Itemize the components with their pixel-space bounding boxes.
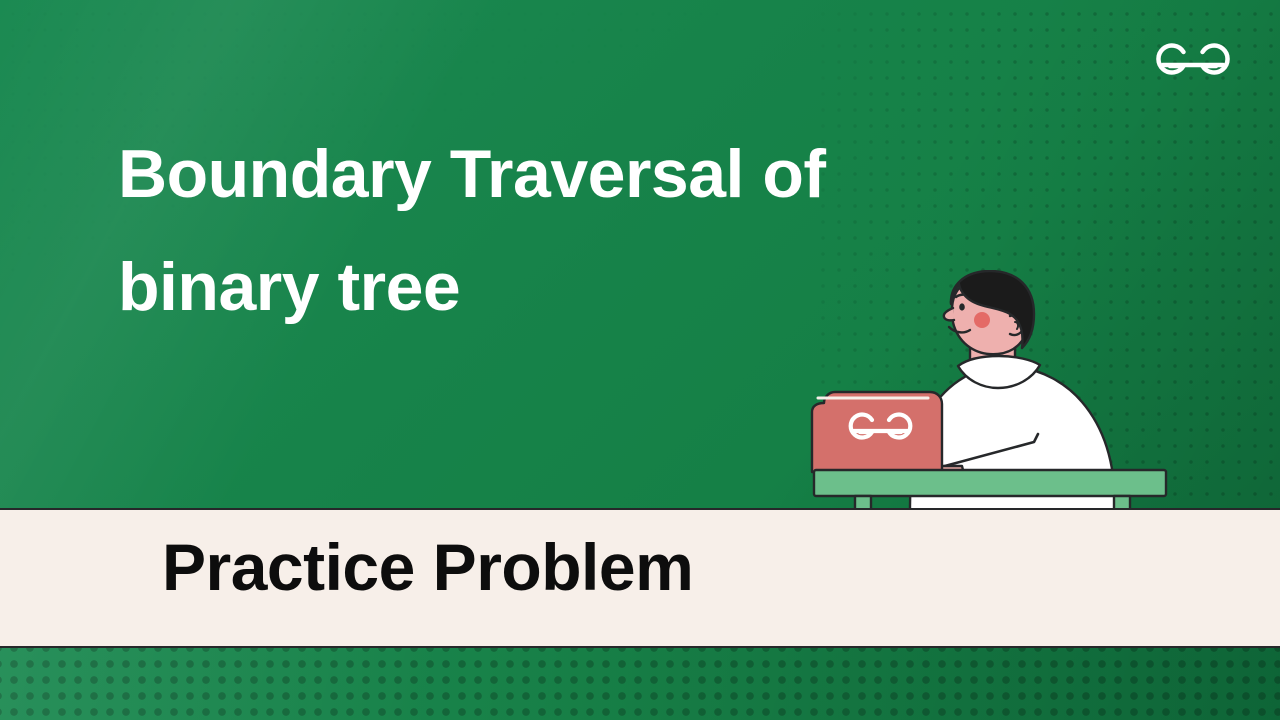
eye: [959, 303, 965, 310]
bottom-dotted-strip: [0, 646, 1280, 720]
page-title-line-1: Boundary Traversal of: [118, 118, 1078, 231]
nose: [944, 308, 954, 320]
bottom-strip-sheen: [0, 648, 1280, 720]
geeksforgeeks-logo: [1152, 34, 1234, 84]
desk-top: [814, 470, 1166, 496]
practice-problem-label: Practice Problem: [162, 534, 693, 600]
blush: [974, 312, 990, 328]
slide-canvas: Boundary Traversal of binary tree: [0, 0, 1280, 720]
